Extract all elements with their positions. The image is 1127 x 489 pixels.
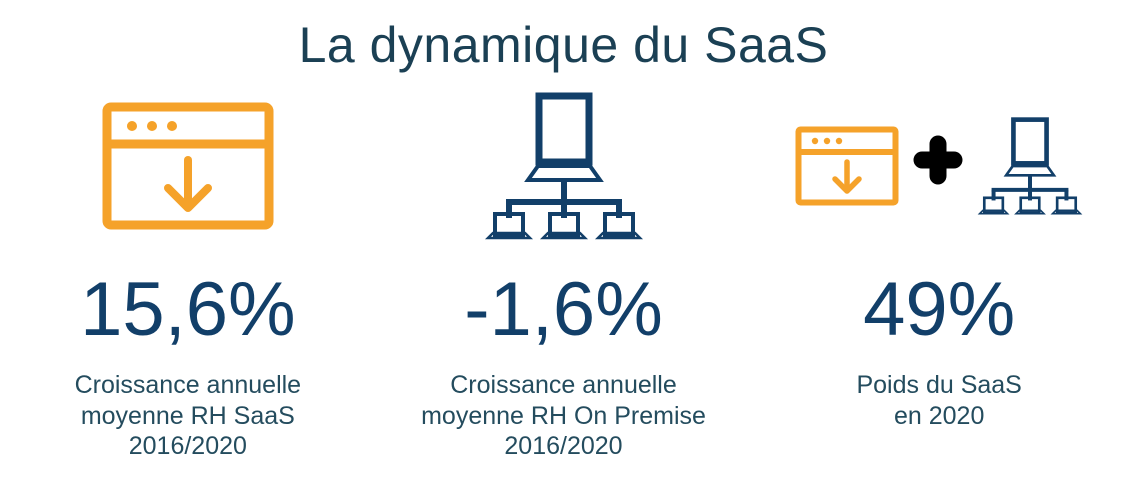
stat-caption: Poids du SaaS en 2020 xyxy=(856,370,1021,431)
stat-caption: Croissance annuelle moyenne RH On Premis… xyxy=(421,370,706,462)
infographic-root: La dynamique du SaaS 15,6% C xyxy=(0,0,1127,489)
page-title: La dynamique du SaaS xyxy=(0,16,1127,74)
network-server-icon xyxy=(977,114,1083,223)
stat-value: 15,6% xyxy=(80,272,296,348)
stat-value: 49% xyxy=(863,272,1015,348)
icon-area xyxy=(795,92,1083,244)
icon-area xyxy=(102,92,274,244)
plus-icon xyxy=(913,135,963,190)
network-server-icon xyxy=(484,92,644,245)
stat-value: -1,6% xyxy=(464,272,663,348)
stat-column-saas-growth: 15,6% Croissance annuelle moyenne RH Saa… xyxy=(0,92,376,489)
stats-row: 15,6% Croissance annuelle moyenne RH Saa… xyxy=(0,92,1127,489)
browser-download-icon xyxy=(795,126,899,211)
stat-column-saas-share: 49% Poids du SaaS en 2020 xyxy=(751,92,1127,489)
stat-caption: Croissance annuelle moyenne RH SaaS 2016… xyxy=(75,370,302,462)
browser-download-icon xyxy=(102,102,274,235)
icon-area xyxy=(484,92,644,244)
stat-column-on-premise-growth: -1,6% Croissance annuelle moyenne RH On … xyxy=(376,92,752,489)
